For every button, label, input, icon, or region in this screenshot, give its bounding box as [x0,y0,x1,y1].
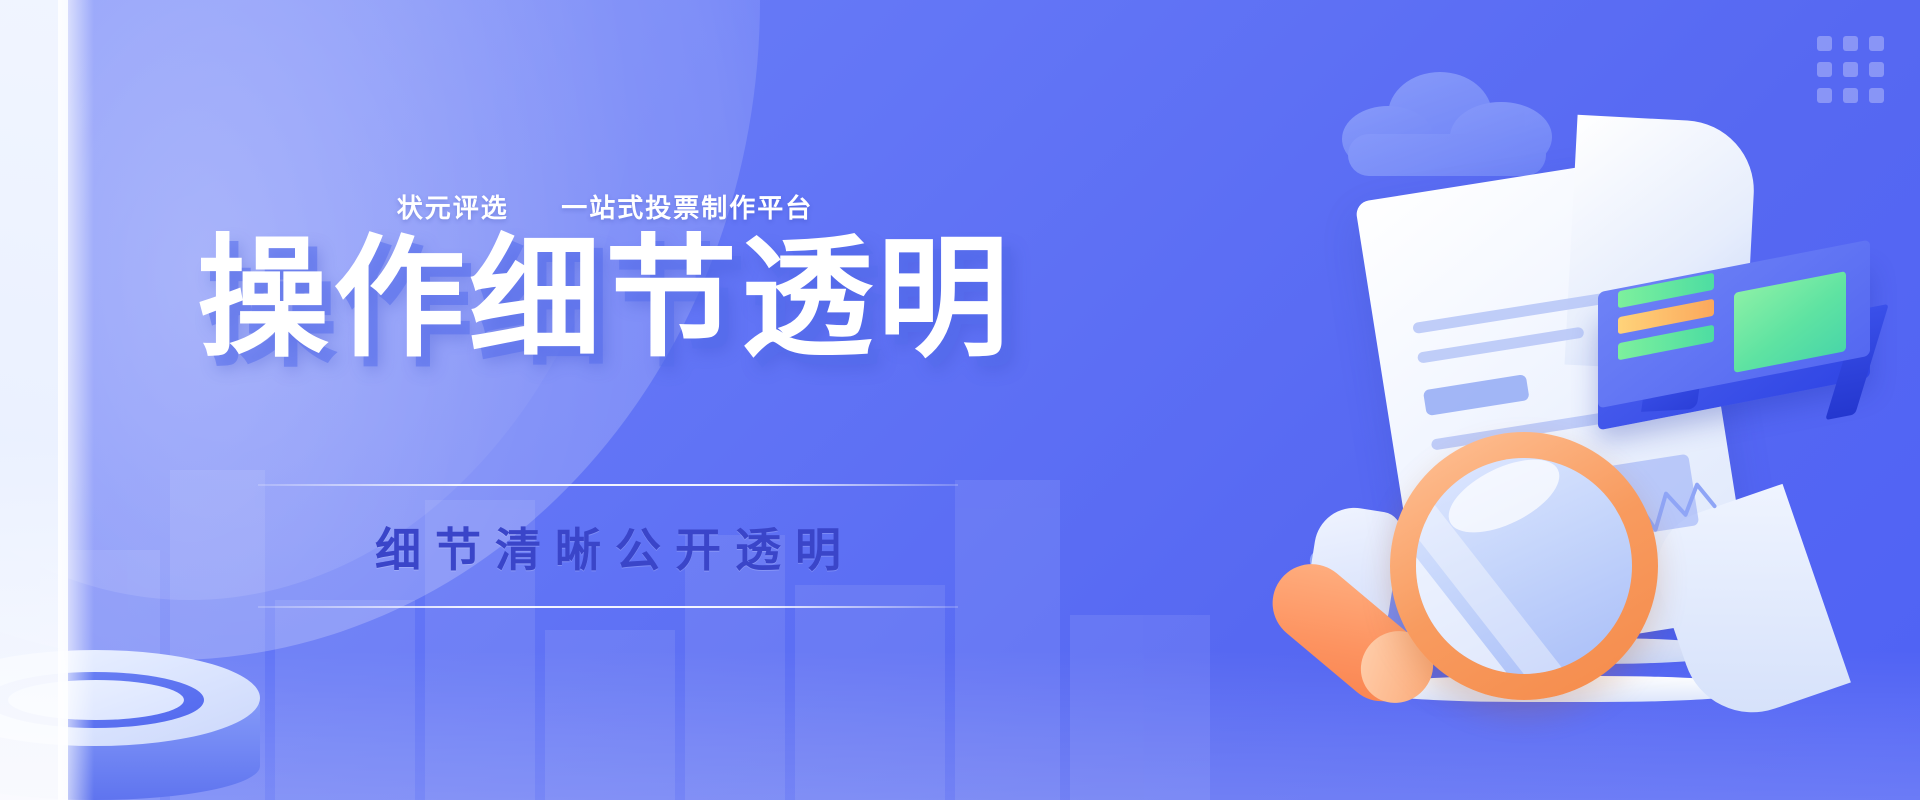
promo-banner: 状元评选 一站式投票制作平台 操作细节透明 细节清晰公开透明 [0,0,1920,800]
banner-text-block: 状元评选 一站式投票制作平台 操作细节透明 细节清晰公开透明 [0,0,1210,800]
banner-subline: 细节清晰公开透明 [258,486,958,606]
hero-illustration [1220,120,1920,800]
chart-card-icon [1588,248,1888,428]
kicker-left-text: 状元评选 [397,193,509,223]
banner-headline: 操作细节透明 [0,228,1210,371]
subline-group: 细节清晰公开透明 [258,484,958,608]
dot-grid-decoration-top-right [1817,36,1884,103]
kicker-right-text: 一站式投票制作平台 [561,193,813,223]
divider-line-bottom [258,606,958,608]
banner-kicker: 状元评选 一站式投票制作平台 [0,188,1210,225]
magnifier-icon [1244,406,1704,800]
